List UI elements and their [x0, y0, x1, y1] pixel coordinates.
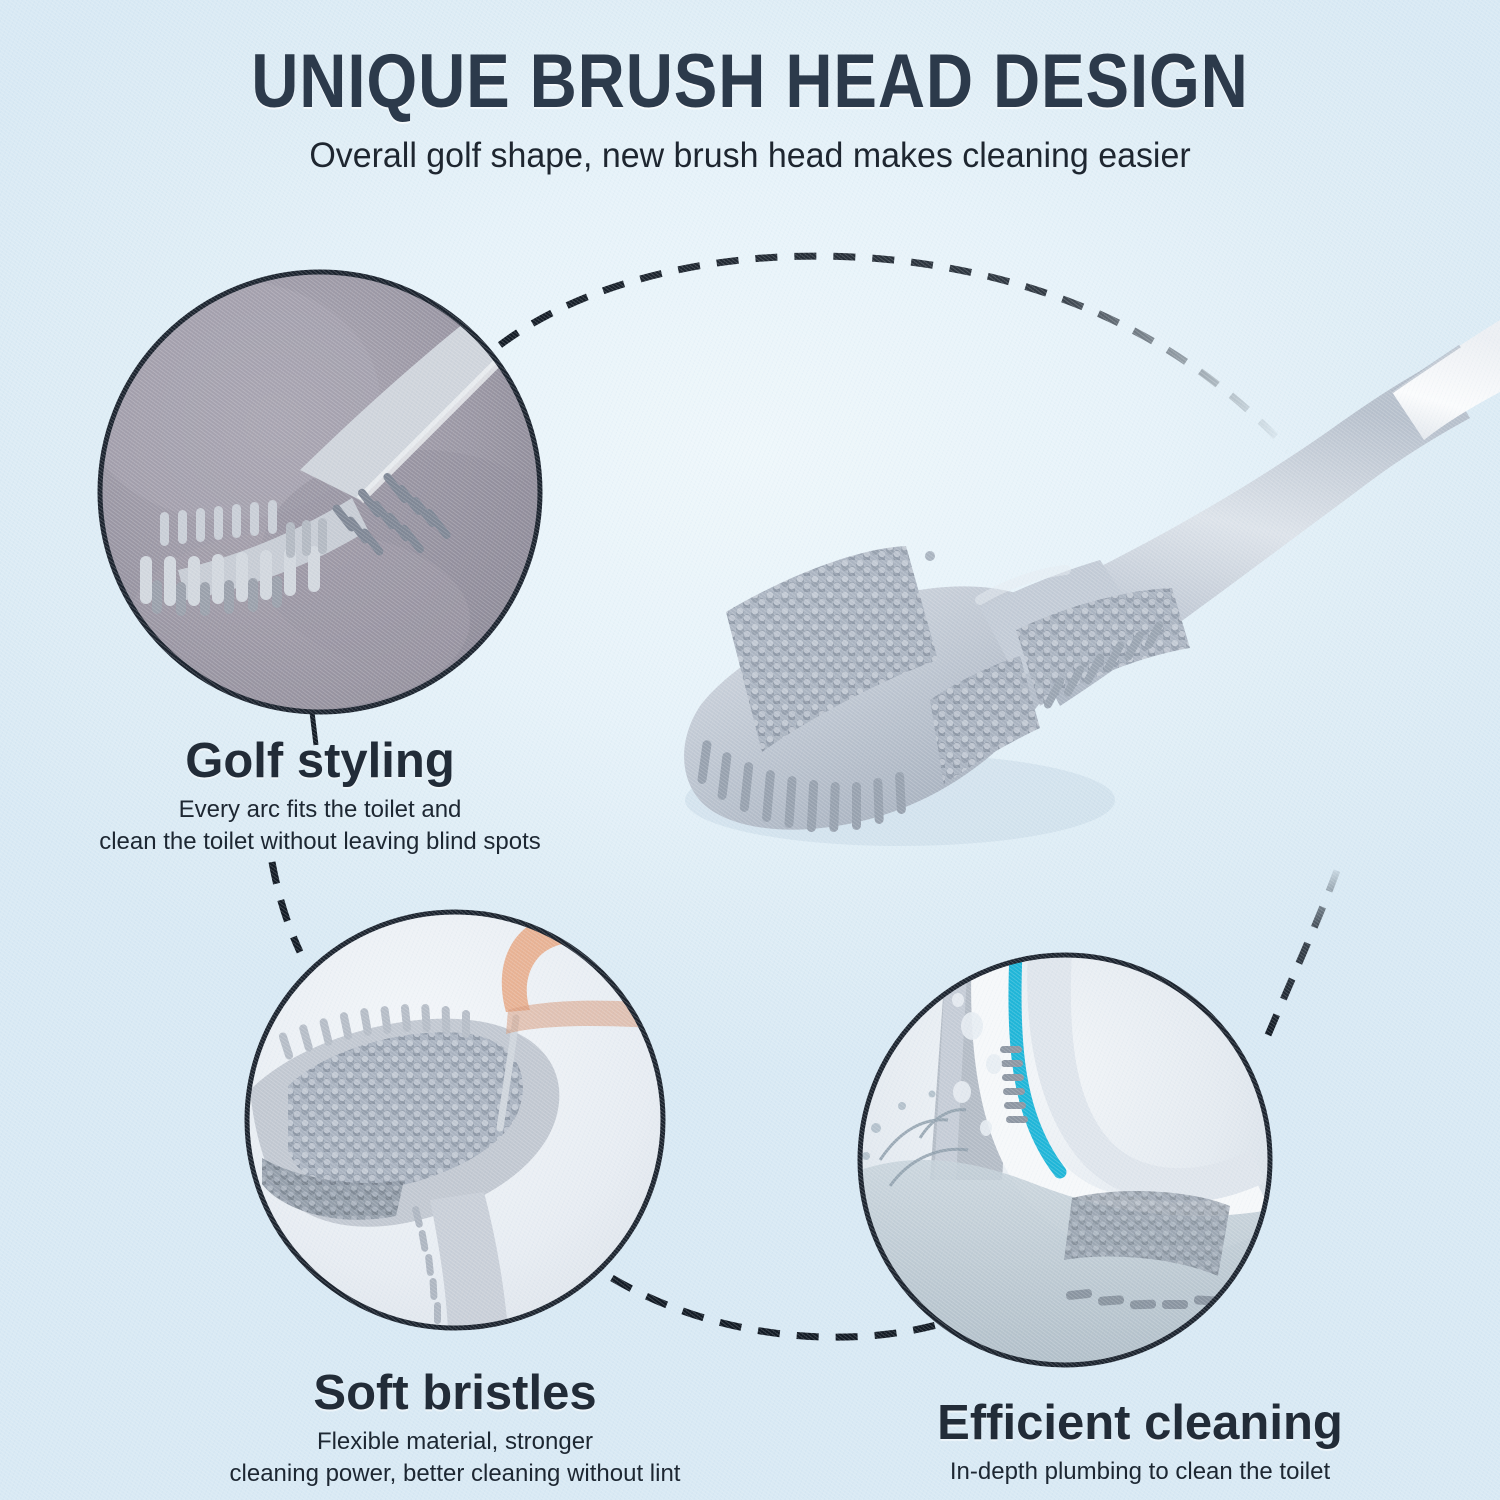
inset-soft-bristles: [247, 911, 792, 1330]
connector-efficient-to-product: [1268, 862, 1340, 1035]
feature-label-efficient-cleaning: Efficient cleaning In-depth plumbing to …: [860, 1398, 1420, 1488]
brush-vent-hole: [925, 551, 935, 561]
connector-golf-to-product: [500, 256, 1290, 452]
feature-label-soft-bristles: Soft bristles Flexible material, stronge…: [195, 1368, 715, 1489]
feature-description: Every arc fits the toilet and clean the …: [60, 794, 580, 856]
connector-golf-label-to-soft: [272, 862, 300, 952]
feature-label-golf-styling: Golf styling Every arc fits the toilet a…: [60, 736, 580, 857]
feature-description: In-depth plumbing to clean the toilet: [860, 1456, 1420, 1487]
feature-description: Flexible material, stronger cleaning pow…: [195, 1426, 715, 1488]
inset-efficient-cleaning: [860, 950, 1280, 1380]
page-title: UNIQUE BRUSH HEAD DESIGN: [105, 44, 1395, 120]
main-product-brush: [684, 320, 1500, 846]
infographic-page: UNIQUE BRUSH HEAD DESIGN Overall golf sh…: [0, 0, 1500, 1500]
feature-title: Efficient cleaning: [860, 1398, 1420, 1449]
header: UNIQUE BRUSH HEAD DESIGN Overall golf sh…: [0, 0, 1500, 176]
feature-title: Golf styling: [60, 736, 580, 787]
feature-title: Soft bristles: [195, 1368, 715, 1419]
page-subtitle: Overall golf shape, new brush head makes…: [23, 136, 1478, 176]
